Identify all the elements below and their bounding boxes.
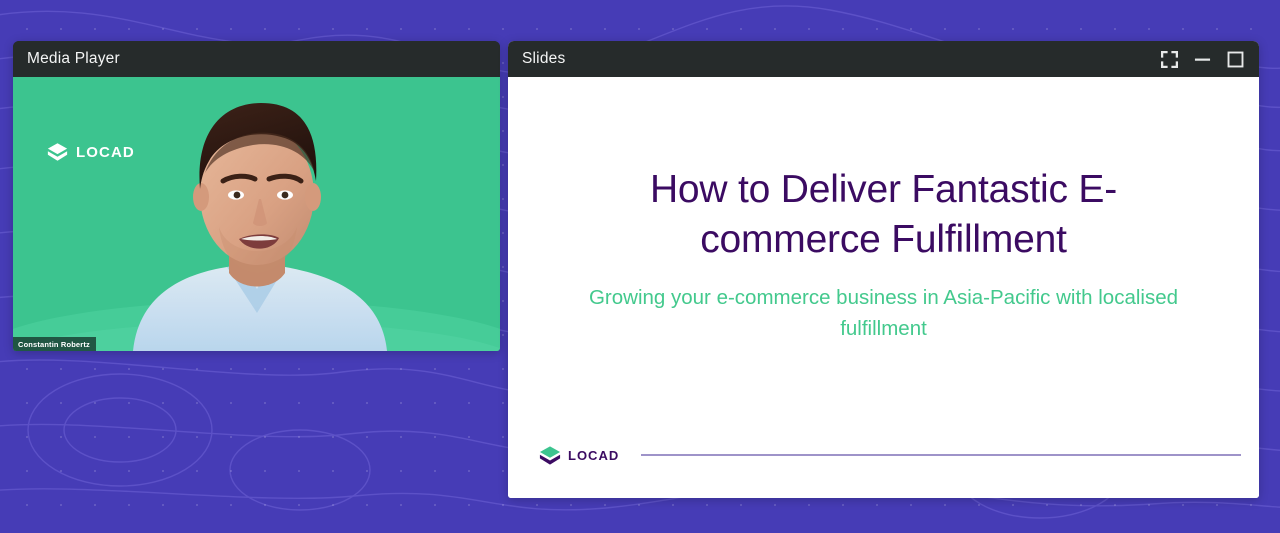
slide-canvas[interactable]: How to Deliver Fantastic E-commerce Fulf… [508,77,1259,498]
presenter-video-frame [13,77,500,351]
minimize-button[interactable] [1192,49,1212,69]
video-watermark: LOCAD [47,142,135,162]
media-player-title: Media Player [27,50,120,68]
media-player-titlebar: Media Player [13,41,500,77]
slide-footer-logo: LOCAD [539,445,619,466]
speaker-name-label: Constantin Robertz [13,337,96,351]
fullscreen-button[interactable] [1159,49,1179,69]
video-surface[interactable]: LOCAD [13,77,500,351]
media-player-window[interactable]: Media Player LOCAD [13,41,500,351]
slide-footer-divider [641,454,1241,455]
video-watermark-text: LOCAD [76,144,135,161]
slide-body: How to Deliver Fantastic E-commerce Fulf… [508,77,1259,426]
slides-titlebar: Slides [508,41,1259,77]
slides-window[interactable]: Slides [508,41,1259,498]
slide-footer-brand: LOCAD [568,448,619,463]
square-icon [1227,51,1244,68]
window-controls [1159,49,1245,69]
slide-footer: LOCAD [508,426,1259,498]
expand-arrows-icon [1161,51,1178,68]
slide-heading: How to Deliver Fantastic E-commerce Fulf… [624,165,1144,264]
minus-icon [1194,51,1211,68]
slide-subheading: Growing your e-commerce business in Asia… [574,283,1194,343]
locad-chevron-logo-icon [47,142,68,162]
slides-title: Slides [522,50,565,68]
maximize-button[interactable] [1225,49,1245,69]
locad-chevron-logo-icon [539,445,561,466]
